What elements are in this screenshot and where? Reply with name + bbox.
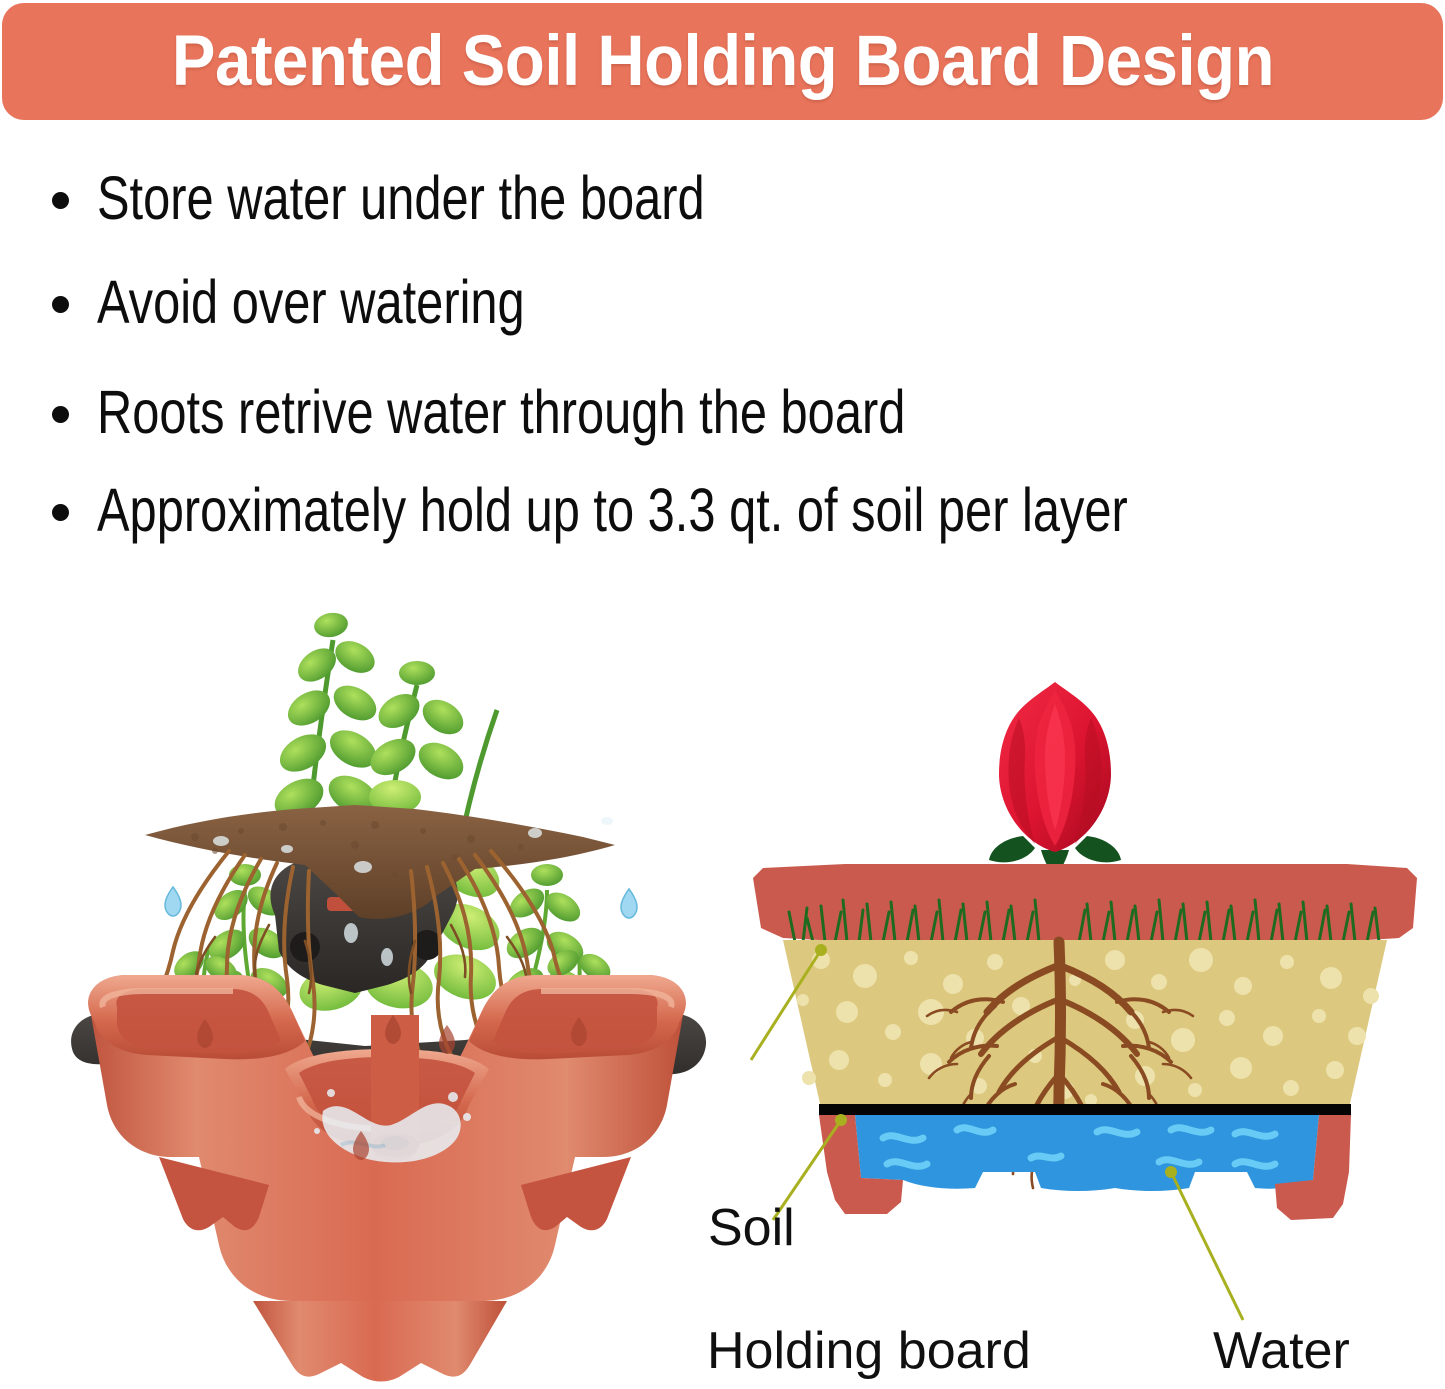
bullet-dot-icon <box>52 406 69 423</box>
label-holding-board: Holding board <box>707 1325 1031 1377</box>
pot-rim <box>753 864 1417 942</box>
pot-cross-section-diagram <box>735 660 1435 1220</box>
label-soil: Soil <box>708 1202 795 1254</box>
stackable-planter-body <box>88 975 686 1382</box>
header-banner: Patented Soil Holding Board Design <box>2 3 1443 120</box>
holding-board-line <box>819 1104 1351 1115</box>
list-item-label: Roots retrive water through the board <box>97 382 905 443</box>
bullet-dot-icon <box>52 504 69 521</box>
list-item-label: Approximately hold up to 3.3 qt. of soil… <box>97 480 1128 541</box>
list-item-label: Avoid over watering <box>97 272 525 333</box>
list-item: Avoid over watering <box>52 272 632 333</box>
list-item: Roots retrive water through the board <box>52 382 1107 443</box>
rose-bloom <box>999 682 1111 852</box>
list-item: Store water under the board <box>52 168 857 229</box>
water-reservoir <box>855 1115 1319 1191</box>
label-water: Water <box>1213 1325 1350 1377</box>
bullet-dot-icon <box>52 296 69 313</box>
list-item: Approximately hold up to 3.3 qt. of soil… <box>52 480 1385 541</box>
soil-layer <box>783 940 1387 1108</box>
list-item-label: Store water under the board <box>97 168 705 229</box>
page-title: Patented Soil Holding Board Design <box>171 26 1273 97</box>
stackable-planter-photo <box>55 545 720 1380</box>
bullet-dot-icon <box>52 192 69 209</box>
